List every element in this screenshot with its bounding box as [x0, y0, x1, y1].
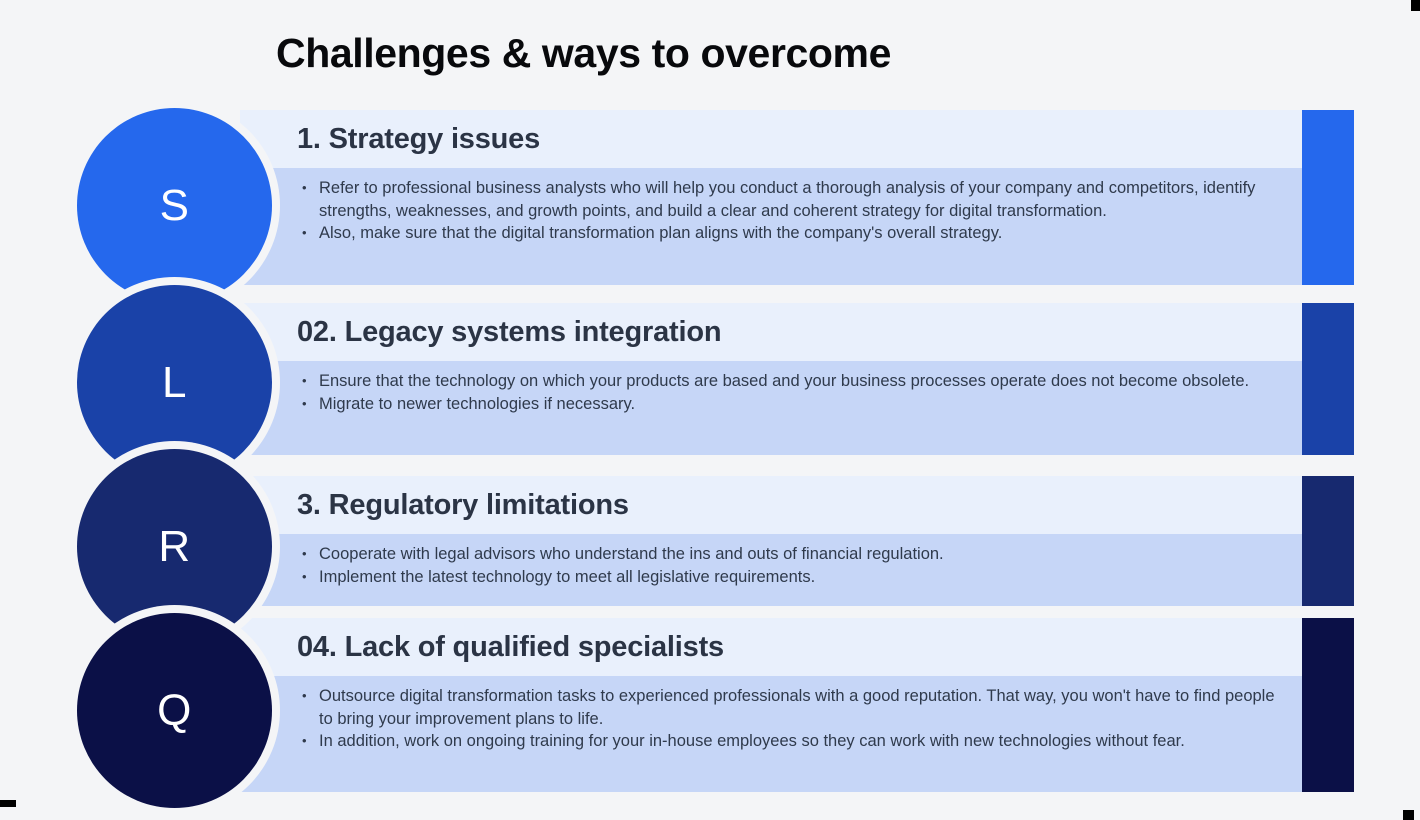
slide-canvas: Challenges & ways to overcome 1. Strateg…	[0, 0, 1420, 820]
corner-mark-top-right	[1411, 0, 1420, 11]
row-bands: 04. Lack of qualified specialists Outsou…	[240, 618, 1302, 792]
badge-letter: L	[162, 358, 187, 408]
row-body: Cooperate with legal advisors who unders…	[240, 534, 1302, 606]
row-accent-bar	[1302, 476, 1354, 606]
bullet-list: Outsource digital transformation tasks t…	[297, 685, 1280, 753]
row-heading-text: 02. Legacy systems integration	[297, 316, 721, 349]
bullet-item: Also, make sure that the digital transfo…	[297, 222, 1280, 245]
row-accent-bar	[1302, 618, 1354, 792]
badge-circle-1: S	[77, 108, 272, 303]
bullet-item: In addition, work on ongoing training fo…	[297, 730, 1280, 753]
row-heading-text: 3. Regulatory limitations	[297, 489, 629, 522]
row-accent-bar	[1302, 110, 1354, 285]
bullet-item: Migrate to newer technologies if necessa…	[297, 393, 1280, 416]
row-header: 04. Lack of qualified specialists	[240, 618, 1302, 676]
row-header: 1. Strategy issues	[240, 110, 1302, 168]
corner-mark-bottom-right	[1403, 810, 1414, 820]
bullet-item: Implement the latest technology to meet …	[297, 566, 1280, 589]
row-heading-text: 04. Lack of qualified specialists	[297, 631, 724, 664]
row-body: Refer to professional business analysts …	[240, 168, 1302, 285]
row-bands: 1. Strategy issues Refer to professional…	[240, 110, 1302, 285]
row-header: 3. Regulatory limitations	[240, 476, 1302, 534]
bullet-list: Refer to professional business analysts …	[297, 177, 1280, 245]
badge-letter: Q	[157, 686, 192, 736]
badge-letter: R	[158, 522, 190, 572]
bullet-list: Cooperate with legal advisors who unders…	[297, 543, 1280, 588]
row-body: Ensure that the technology on which your…	[240, 361, 1302, 455]
bullet-item: Refer to professional business analysts …	[297, 177, 1280, 222]
row-bands: 3. Regulatory limitations Cooperate with…	[240, 476, 1302, 606]
bullet-item: Ensure that the technology on which your…	[297, 370, 1280, 393]
bullet-item: Outsource digital transformation tasks t…	[297, 685, 1280, 730]
bullet-list: Ensure that the technology on which your…	[297, 370, 1280, 415]
row-header: 02. Legacy systems integration	[240, 303, 1302, 361]
page-title: Challenges & ways to overcome	[276, 30, 891, 77]
corner-mark-bottom-left	[0, 800, 16, 807]
row-heading-text: 1. Strategy issues	[297, 123, 540, 156]
row-body: Outsource digital transformation tasks t…	[240, 676, 1302, 792]
row-accent-bar	[1302, 303, 1354, 455]
badge-letter: S	[160, 181, 190, 231]
row-bands: 02. Legacy systems integration Ensure th…	[240, 303, 1302, 455]
badge-circle-4: Q	[77, 613, 272, 808]
bullet-item: Cooperate with legal advisors who unders…	[297, 543, 1280, 566]
